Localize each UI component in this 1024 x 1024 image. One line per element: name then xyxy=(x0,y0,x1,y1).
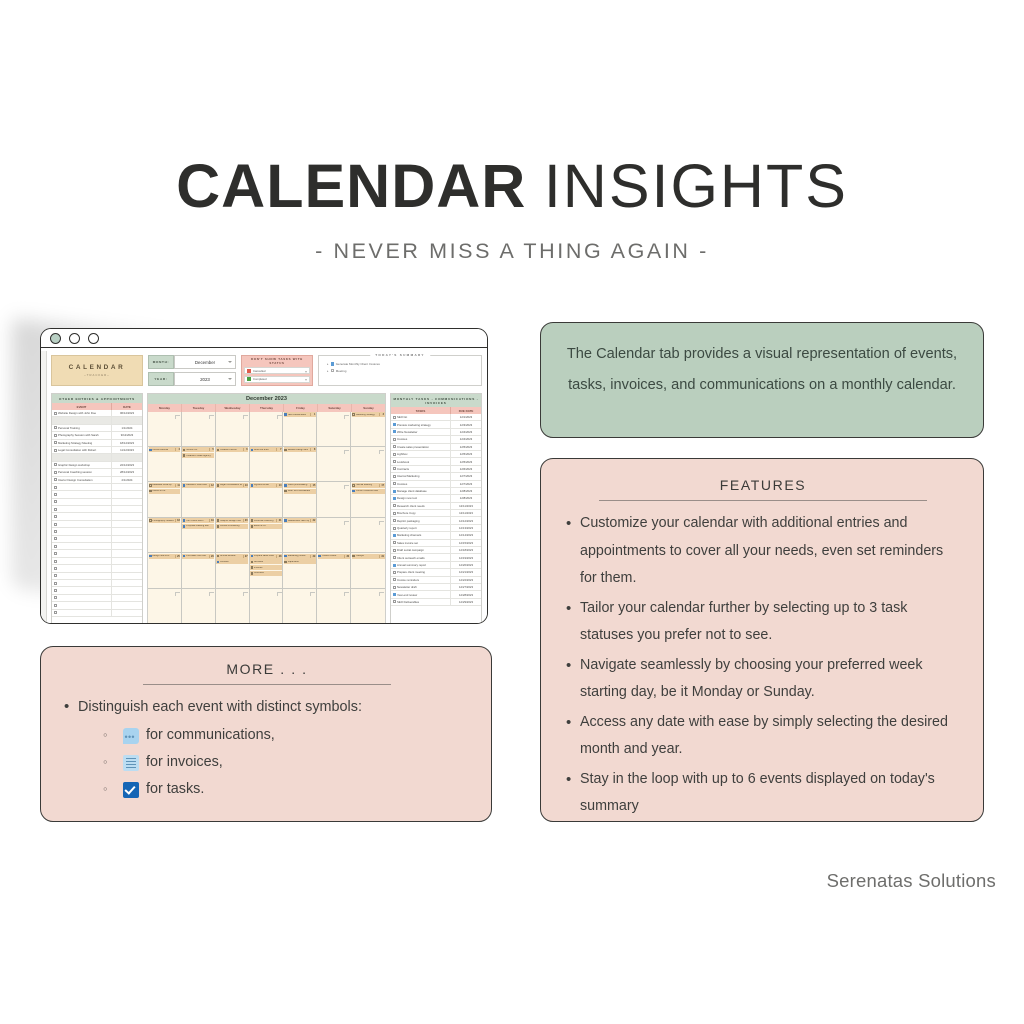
row-primary-cell: Create sales presentation xyxy=(391,444,451,450)
other-entries-empty-row[interactable] xyxy=(52,506,142,513)
row-primary-cell: Draft social campaign xyxy=(391,547,451,553)
checkbox-empty-icon[interactable] xyxy=(393,578,396,581)
calendar-event-chip[interactable]: Marketing Strategy3 xyxy=(352,412,385,417)
checkbox-empty-icon[interactable] xyxy=(393,475,396,478)
row-label: Quarterly report xyxy=(397,526,417,530)
date-pickers: MONTH: December YEAR: 2023 xyxy=(148,355,236,386)
calendar-event-chip[interactable]: Purchase Offer site26 xyxy=(182,554,214,559)
calendar-event-chip[interactable]: Creative Private Agency xyxy=(182,453,214,458)
row-primary-cell: Manage client database xyxy=(391,488,451,494)
monthly-tasks-row[interactable]: Quarterly report12/13/2023 xyxy=(391,525,481,532)
calendar-event-chip[interactable]: Internal Meeting17 xyxy=(352,483,385,488)
other-entries-empty-row[interactable] xyxy=(52,491,142,498)
monthly-tasks-row[interactable]: Draft social campaign12/18/2023 xyxy=(391,547,481,554)
calendar-day-cell[interactable]: website Design with8 xyxy=(283,447,317,481)
checkbox-empty-icon[interactable] xyxy=(54,486,57,489)
calendar-event-chip[interactable]: Photography Session18 xyxy=(149,518,181,523)
calendar-day-cell[interactable] xyxy=(317,447,351,481)
calendar-event-label: Photography Session xyxy=(152,520,174,522)
row-primary-cell: Newsletter draft xyxy=(391,584,451,590)
row-primary-cell: Quarterly report xyxy=(391,525,451,531)
calendar-day-cell[interactable]: Annual Review27Invoices xyxy=(216,553,250,587)
calendar-day-cell[interactable]: Invoice review30 xyxy=(317,553,351,587)
calendar-week-row: Invoice webinar4Invoice Co.5Creative Pri… xyxy=(148,447,385,482)
calendar-event-chip[interactable]: SEO Deliverables1 xyxy=(284,412,316,417)
row-primary-cell: Brochure Copy xyxy=(391,510,451,516)
calendar-weekday-header: MondayTuesdayWednesdayThursdayFridaySatu… xyxy=(148,404,385,411)
checkbox-checked-icon xyxy=(251,449,254,452)
todays-summary-title: TODAY'S SUMMARY xyxy=(370,353,430,357)
more-heading-rule xyxy=(143,684,390,685)
checkbox-empty-icon xyxy=(217,525,220,528)
calendar-day-cell[interactable] xyxy=(250,412,284,446)
row-date-cell: 06/12/2023 xyxy=(112,411,142,415)
other-entries-empty-row[interactable] xyxy=(52,499,142,506)
calendar-event-chip[interactable]: Invoice review30 xyxy=(318,554,350,559)
calendar-event-chip[interactable]: Client proofreading15 xyxy=(284,483,316,488)
monthly-tasks-row[interactable]: Create sales presentation12/5/2023 xyxy=(391,444,481,451)
checkbox-empty-icon[interactable] xyxy=(393,504,396,507)
calendar-event-chip[interactable]: Assessment SEO rep22 xyxy=(284,518,316,523)
calendar-day-cell[interactable] xyxy=(250,589,284,623)
year-picker[interactable]: YEAR: 2023 xyxy=(148,372,236,386)
calendar-day-cell[interactable]: Design new func25 xyxy=(148,553,182,587)
row-date-cell: 12/1/2023 xyxy=(451,415,481,419)
checkbox-empty-icon[interactable] xyxy=(54,426,57,429)
row-primary-cell: Year-end review xyxy=(391,591,451,597)
calendar-day-cell[interactable]: Creative Kick-off6 xyxy=(216,447,250,481)
row-date-cell: 12/28/2023 xyxy=(451,593,481,597)
checkbox-checked-icon xyxy=(284,484,287,487)
other-entries-empty-row[interactable] xyxy=(52,521,142,528)
row-primary-cell: Graphic Design workshop xyxy=(52,462,112,468)
calendar-day-cell[interactable] xyxy=(351,589,385,623)
calendar-day-cell[interactable]: Prepare sales order28ActivitiesInvoicesC… xyxy=(250,553,284,587)
checkbox-empty-icon[interactable] xyxy=(54,412,57,415)
monthly-tasks-row[interactable]: Contracts12/6/2023 xyxy=(391,466,481,473)
monthly-tasks-row[interactable]: Client outreach emails12/19/2023 xyxy=(391,554,481,561)
checkbox-empty-icon[interactable] xyxy=(54,567,57,570)
other-entries-row[interactable]: Interior Design Consultation2/1/2024 xyxy=(52,477,142,484)
other-entries-empty-row[interactable] xyxy=(52,595,142,602)
calendar-event-chip[interactable]: Creative Kick-off6 xyxy=(216,447,248,452)
monthly-tasks-row[interactable]: Preview marketing strategy12/3/2023 xyxy=(391,421,481,428)
calendar-event-chip[interactable]: Cut Online event19 xyxy=(182,518,214,523)
checkbox-checked-icon[interactable] xyxy=(393,564,396,567)
checkbox-empty-icon[interactable] xyxy=(54,574,57,577)
row-primary-cell: Interior Design Consultation xyxy=(52,477,112,483)
spreadsheet-mockup-window: CALENDAR ~TRACKER~ MONTH: December YEAR:… xyxy=(40,328,488,624)
calendar-day-number: 30 xyxy=(344,555,349,558)
calendar-event-label: Brochure draft xyxy=(254,449,276,451)
calendar-event-chip[interactable]: Database Write-up11 xyxy=(149,483,181,488)
calendar-event-label: Paperwork xyxy=(288,561,315,563)
checkbox-empty-icon xyxy=(284,561,287,564)
window-dot-third[interactable] xyxy=(88,333,99,344)
calendar-event-chip[interactable]: Annual Review27 xyxy=(216,554,248,559)
checkbox-empty-icon[interactable] xyxy=(54,471,57,474)
month-value[interactable]: December xyxy=(174,355,236,369)
calendar-day-number: 22 xyxy=(310,519,315,522)
row-label: SEO Deliverables xyxy=(397,600,419,604)
summary-arrow-icon: ▸ xyxy=(327,362,329,366)
year-value[interactable]: 2023 xyxy=(174,372,236,386)
other-entries-row[interactable] xyxy=(52,417,142,424)
row-label: Create sales presentation xyxy=(397,445,429,449)
feature-item: Stay in the loop with up to 6 events dis… xyxy=(563,766,963,821)
checkbox-empty-icon[interactable] xyxy=(393,586,396,589)
summary-item-0: ▸ Generate Monthly Client Invoices xyxy=(327,362,476,366)
calendar-event-label: Creative Kick-off xyxy=(220,449,242,451)
checkbox-empty-icon[interactable] xyxy=(393,549,396,552)
calendar-day-cell[interactable] xyxy=(216,589,250,623)
monthly-tasks-row[interactable]: Write Newsletter12/4/2023 xyxy=(391,429,481,436)
calendar-event-chip[interactable]: Invoice Processing xyxy=(216,524,248,529)
calendar-day-cell[interactable] xyxy=(216,412,250,446)
row-primary-cell: SEO list xyxy=(391,414,451,420)
calendar-day-cell[interactable]: Research Draft Brief12 xyxy=(182,482,216,516)
calendar-week-row: Database Write-up11Clients & Co.Research… xyxy=(148,482,385,517)
row-primary-cell: Invoice reminders xyxy=(391,577,451,583)
row-primary-cell xyxy=(52,595,112,601)
monthly-tasks-row[interactable]: Lookbook12/5/2023 xyxy=(391,458,481,465)
calendar-day-cell[interactable]: Marketing photos29Paperwork xyxy=(283,553,317,587)
calendar-event-chip[interactable]: Lifestyle31 xyxy=(352,554,385,559)
checkbox-empty-icon[interactable] xyxy=(54,530,57,533)
checkbox-empty-icon[interactable] xyxy=(393,556,396,559)
row-label: Interior Design Consultation xyxy=(58,478,93,482)
features-heading: FEATURES xyxy=(563,477,963,493)
checkbox-empty-icon[interactable] xyxy=(393,519,396,522)
calendar-day-cell[interactable] xyxy=(148,589,182,623)
features-list: Customize your calendar with additional … xyxy=(563,510,963,821)
calendar-event-chip[interactable]: Brochure draft7 xyxy=(250,447,282,452)
summary-task-icon xyxy=(331,362,334,365)
calendar-event-chip[interactable]: Legal Consultation with13 xyxy=(216,483,248,488)
checkbox-checked-icon[interactable] xyxy=(393,430,396,433)
calendar-day-cell[interactable] xyxy=(351,447,385,481)
calendar-event-chip[interactable]: Invoices xyxy=(250,565,282,570)
monthly-tasks-row[interactable]: Research client needs12/11/2023 xyxy=(391,503,481,510)
calendar-day-cell[interactable]: Assessment SEO rep22 xyxy=(283,518,317,552)
checkbox-empty-icon[interactable] xyxy=(54,493,57,496)
calendar-event-chip[interactable]: Contracts xyxy=(250,571,282,576)
checkbox-empty-icon[interactable] xyxy=(393,416,396,419)
monthly-tasks-columns: TASKS DUE DATE xyxy=(391,407,481,414)
other-entries-row[interactable]: Graphic Design workshop22/12/2023 xyxy=(52,462,142,469)
checkbox-empty-icon[interactable] xyxy=(54,478,57,481)
row-primary-cell: Marketing Strategy Meeting xyxy=(52,440,112,446)
other-entries-empty-row[interactable] xyxy=(52,513,142,520)
checkbox-empty-icon[interactable] xyxy=(393,600,396,603)
row-date-cell: 28/12/2023 xyxy=(112,470,142,474)
other-entries-title: OTHER ENTRIES & APPOINTMENTS xyxy=(52,394,142,403)
calendar-day-cell[interactable]: Personal Coaching21Event & Co. xyxy=(250,518,284,552)
calendar-event-chip[interactable]: Prepare sales order28 xyxy=(250,554,282,559)
checkbox-empty-icon[interactable] xyxy=(54,582,57,585)
checkbox-empty-icon[interactable] xyxy=(54,545,57,548)
calendar-event-chip[interactable]: Invoice webinar4 xyxy=(149,447,181,452)
row-primary-cell: Design new tool xyxy=(391,495,451,501)
checkbox-empty-icon[interactable] xyxy=(54,523,57,526)
other-entries-row[interactable]: Legal Consultation with Robert11/12/2023 xyxy=(52,447,142,454)
calendar-day-cell[interactable] xyxy=(283,589,317,623)
other-entries-empty-row[interactable] xyxy=(52,536,142,543)
monthly-tasks-row[interactable]: SEO Deliverables12/29/2023 xyxy=(391,599,481,606)
calendar-event-chip[interactable]: Marketing photos29 xyxy=(284,554,316,559)
more-list: Distinguish each event with distinct sym… xyxy=(61,694,473,803)
calendar-day-cell[interactable]: Lightbox email14 xyxy=(250,482,284,516)
calendar-event-label: Legal Consultation with xyxy=(220,484,242,486)
calendar-day-number: 6 xyxy=(243,448,248,451)
calendar-event-label: Purchase Offer site xyxy=(186,555,208,557)
checkbox-empty-icon[interactable] xyxy=(54,552,57,555)
monthly-tasks-row[interactable]: Manage client database12/8/2023 xyxy=(391,488,481,495)
other-entries-empty-row[interactable] xyxy=(52,484,142,491)
other-entries-row[interactable]: Marketing Strategy Meeting18/12/2023 xyxy=(52,440,142,447)
row-primary-cell: Reprint packaging xyxy=(391,517,451,523)
calendar-day-cell[interactable] xyxy=(317,412,351,446)
checkbox-empty-icon[interactable] xyxy=(54,434,57,437)
more-lead-text: Distinguish each event with distinct sym… xyxy=(78,699,362,715)
other-entries-row[interactable]: Website Design with John Doe06/12/2023 xyxy=(52,410,142,417)
calendar-event-chip[interactable]: Research Draft Brief12 xyxy=(182,483,214,488)
calendar-event-chip[interactable]: Design new func25 xyxy=(149,554,181,559)
calendar-event-chip[interactable]: Personal Coaching21 xyxy=(250,518,282,523)
checkbox-empty-icon xyxy=(183,449,186,452)
other-entries-empty-row[interactable] xyxy=(52,565,142,572)
checkbox-empty-icon[interactable] xyxy=(393,541,396,544)
other-entries-row[interactable]: Photography Session with Sarah9/12/2023 xyxy=(52,432,142,439)
checkbox-checked-icon[interactable] xyxy=(393,497,396,500)
calendar-day-number-empty xyxy=(277,592,282,596)
checkbox-empty-icon xyxy=(183,454,186,457)
row-date-cell: 12/19/2023 xyxy=(451,556,481,560)
calendar-day-number: 13 xyxy=(243,484,248,487)
row-label: Invoices xyxy=(397,482,407,486)
monthly-tasks-row[interactable]: Reprint packaging12/12/2023 xyxy=(391,517,481,524)
calendar-day-number-empty xyxy=(277,415,282,419)
calendar-day-cell[interactable] xyxy=(317,589,351,623)
calendar-event-chip[interactable]: Event & Co. xyxy=(250,524,282,529)
checkbox-empty-icon xyxy=(149,519,152,522)
calendar-event-chip[interactable]: Draft Tech Accelerator xyxy=(284,489,316,494)
checkbox-empty-icon[interactable] xyxy=(393,512,396,515)
calendar-day-number-empty xyxy=(379,450,384,454)
calendar-day-cell[interactable]: Graphic Design brief20Invoice Processing xyxy=(216,518,250,552)
window-dot-second[interactable] xyxy=(69,333,80,344)
checkbox-empty-icon[interactable] xyxy=(54,589,57,592)
checkbox-empty-icon[interactable] xyxy=(54,596,57,599)
calendar-day-cell[interactable]: Photography Session18 xyxy=(148,518,182,552)
monthly-tasks-row[interactable]: Invoice reminders12/22/2023 xyxy=(391,577,481,584)
feature-item: Customize your calendar with additional … xyxy=(563,510,963,593)
calendar-event-chip[interactable]: website Design with8 xyxy=(284,447,316,452)
calendar-event-chip[interactable]: Clients & Co. xyxy=(149,489,181,494)
calendar-event-label: Marketing photos xyxy=(288,555,310,557)
monthly-tasks-row[interactable]: Invoices12/4/2023 xyxy=(391,436,481,443)
other-entries-row[interactable]: Personal Coaching session28/12/2023 xyxy=(52,469,142,476)
row-primary-cell xyxy=(52,513,112,519)
checkbox-empty-icon xyxy=(217,555,220,558)
calendar-day-cell[interactable] xyxy=(148,412,182,446)
monthly-tasks-row[interactable]: Lightbox12/5/2023 xyxy=(391,451,481,458)
calendar-day-cell[interactable]: SEO Deliverables1 xyxy=(283,412,317,446)
calendar-day-cell[interactable]: Client proofreading15Draft Tech Accelera… xyxy=(283,482,317,516)
window-dot-green[interactable] xyxy=(50,333,61,344)
checkbox-empty-icon[interactable] xyxy=(54,515,57,518)
checkbox-empty-icon[interactable] xyxy=(393,445,396,448)
calendar-logo-title: CALENDAR xyxy=(69,364,126,371)
calendar-event-chip[interactable]: Invoices xyxy=(216,559,248,564)
checkbox-empty-icon xyxy=(284,490,287,493)
monthly-tasks-row[interactable]: Year-end review12/28/2023 xyxy=(391,591,481,598)
monthly-tasks-row[interactable]: Internal Marketing12/7/2023 xyxy=(391,473,481,480)
checkbox-empty-icon[interactable] xyxy=(393,438,396,441)
checkbox-empty-icon[interactable] xyxy=(393,460,396,463)
checkbox-checked-icon xyxy=(183,484,186,487)
checkbox-empty-icon[interactable] xyxy=(54,463,57,466)
hide-status-option-0[interactable]: Cancelled xyxy=(244,367,310,374)
checkbox-checked-icon xyxy=(284,555,287,558)
row-date-cell: 18/12/2023 xyxy=(112,441,142,445)
checkbox-empty-icon[interactable] xyxy=(54,500,57,503)
hide-status-option-1[interactable]: Completed xyxy=(244,376,310,383)
status-swatch-completed xyxy=(247,377,251,381)
calendar-day-cell[interactable] xyxy=(182,412,216,446)
calendar-panel: December 2023 MondayTuesdayWednesdayThur… xyxy=(147,393,386,624)
features-card: FEATURES Customize your calendar with ad… xyxy=(540,458,984,822)
calendar-event-chip[interactable]: Graphic Design brief20 xyxy=(216,518,248,523)
checkbox-empty-icon[interactable] xyxy=(393,467,396,470)
other-entries-row[interactable]: Personal Training1/1/2024 xyxy=(52,425,142,432)
calendar-event-chip[interactable]: Confirm customer ask xyxy=(352,489,385,494)
other-entries-empty-row[interactable] xyxy=(52,587,142,594)
calendar-day-cell[interactable] xyxy=(317,482,351,516)
calendar-day-cell[interactable] xyxy=(351,518,385,552)
page-title: CALENDAR INSIGHTS xyxy=(0,156,1024,217)
checkbox-empty-icon[interactable] xyxy=(54,441,57,444)
checkbox-checked-icon[interactable] xyxy=(393,423,396,426)
calendar-day-number-empty xyxy=(310,592,315,596)
other-entries-empty-row[interactable] xyxy=(52,528,142,535)
calendar-day-cell[interactable]: Lifestyle31 xyxy=(351,553,385,587)
calendar-day-cell[interactable] xyxy=(317,518,351,552)
calendar-day-cell[interactable]: Brochure draft7 xyxy=(250,447,284,481)
row-primary-cell xyxy=(52,543,112,549)
row-date-cell: 11/12/2023 xyxy=(112,448,142,452)
monthly-tasks-row[interactable]: SEO list12/1/2023 xyxy=(391,414,481,421)
row-primary-cell: Invoices xyxy=(391,481,451,487)
checkbox-empty-icon[interactable] xyxy=(393,453,396,456)
checkbox-checked-icon[interactable] xyxy=(393,593,396,596)
other-entries-empty-row[interactable] xyxy=(52,543,142,550)
checkbox-empty-icon[interactable] xyxy=(54,537,57,540)
checkbox-empty-icon[interactable] xyxy=(54,604,57,607)
calendar-day-number: 1 xyxy=(310,413,315,416)
calendar-day-cell[interactable]: Database Write-up11Clients & Co. xyxy=(148,482,182,516)
summary-item-1-label: Meeting xyxy=(336,369,347,373)
monthly-tasks-row[interactable]: Prepare client meeting12/21/2023 xyxy=(391,569,481,576)
row-date-cell: 12/6/2023 xyxy=(451,467,481,471)
calendar-day-cell[interactable]: Cut Online event19Proposal meeting with xyxy=(182,518,216,552)
calendar-day-number: 19 xyxy=(209,519,214,522)
monthly-tasks-row[interactable]: Sales invoice set12/15/2023 xyxy=(391,540,481,547)
calendar-day-cell[interactable]: Invoice Co.5Creative Private Agency xyxy=(182,447,216,481)
calendar-event-label: Invoice webinar xyxy=(152,449,174,451)
other-entries-empty-row[interactable] xyxy=(52,558,142,565)
row-primary-cell xyxy=(52,550,112,556)
window-titlebar xyxy=(41,329,487,348)
calendar-day-cell[interactable]: Marketing Strategy3 xyxy=(351,412,385,446)
checkbox-empty-icon xyxy=(251,525,254,528)
other-entries-empty-row[interactable] xyxy=(52,610,142,617)
row-label: Invoices xyxy=(397,437,407,441)
calendar-day-number: 20 xyxy=(243,519,248,522)
checkbox-empty-icon[interactable] xyxy=(54,560,57,563)
calendar-event-chip[interactable]: Paperwork xyxy=(284,559,316,564)
row-label: Invoice reminders xyxy=(397,578,419,582)
checkbox-empty-icon[interactable] xyxy=(393,527,396,530)
calendar-event-chip[interactable]: Invoice Co.5 xyxy=(182,447,214,452)
calendar-day-cell[interactable] xyxy=(182,589,216,623)
row-label: SEO list xyxy=(397,415,407,419)
calendar-event-chip[interactable]: Activities xyxy=(250,559,282,564)
row-primary-cell xyxy=(52,499,112,505)
calendar-day-cell[interactable]: Internal Meeting17Confirm customer ask xyxy=(351,482,385,516)
checkbox-empty-icon[interactable] xyxy=(54,611,57,614)
calendar-event-label: Creative Private Agency xyxy=(186,455,213,457)
monthly-tasks-row[interactable]: Marketing channels12/14/2023 xyxy=(391,532,481,539)
calendar-event-label: Confirm customer ask xyxy=(356,490,384,492)
row-date-cell: 12/21/2023 xyxy=(451,570,481,574)
symbol-label: for invoices, xyxy=(146,749,223,776)
row-label: Draft social campaign xyxy=(397,548,424,552)
year-label: YEAR: xyxy=(148,372,174,386)
month-picker[interactable]: MONTH: December xyxy=(148,355,236,369)
checkbox-empty-icon[interactable] xyxy=(54,449,57,452)
row-primary-cell xyxy=(52,536,112,542)
other-entries-empty-row[interactable] xyxy=(52,602,142,609)
weekday-monday: Monday xyxy=(148,404,182,411)
row-date-cell: 12/14/2023 xyxy=(451,533,481,537)
checkbox-checked-icon[interactable] xyxy=(393,534,396,537)
calendar-day-cell[interactable]: Purchase Offer site26 xyxy=(182,553,216,587)
calendar-day-cell[interactable]: Invoice webinar4 xyxy=(148,447,182,481)
calendar-day-number: 31 xyxy=(379,555,384,558)
row-primary-cell: Research client needs xyxy=(391,503,451,509)
checkbox-empty-icon[interactable] xyxy=(393,482,396,485)
checkbox-empty-icon[interactable] xyxy=(393,571,396,574)
row-primary-cell xyxy=(52,491,112,497)
monthly-tasks-row[interactable]: Design new tool12/8/2023 xyxy=(391,495,481,502)
monthly-tasks-row[interactable]: Annual summary report12/20/2023 xyxy=(391,562,481,569)
checkbox-checked-icon[interactable] xyxy=(393,490,396,493)
calendar-day-number-empty xyxy=(344,592,349,596)
monthly-tasks-row[interactable]: Newsletter draft12/27/2023 xyxy=(391,584,481,591)
calendar-day-cell[interactable]: Legal Consultation with13 xyxy=(216,482,250,516)
monthly-tasks-row[interactable]: Invoices12/7/2023 xyxy=(391,481,481,488)
other-entries-empty-row[interactable] xyxy=(52,580,142,587)
other-entries-empty-row[interactable] xyxy=(52,550,142,557)
other-entries-empty-row[interactable] xyxy=(52,573,142,580)
calendar-event-chip[interactable]: Proposal meeting with xyxy=(182,524,214,529)
monthly-tasks-row[interactable]: Brochure Copy12/11/2023 xyxy=(391,510,481,517)
checkbox-empty-icon[interactable] xyxy=(54,508,57,511)
other-entries-row[interactable] xyxy=(52,454,142,461)
symbol-item: for invoices, xyxy=(103,749,473,776)
calendar-event-chip[interactable]: Lightbox email14 xyxy=(250,483,282,488)
